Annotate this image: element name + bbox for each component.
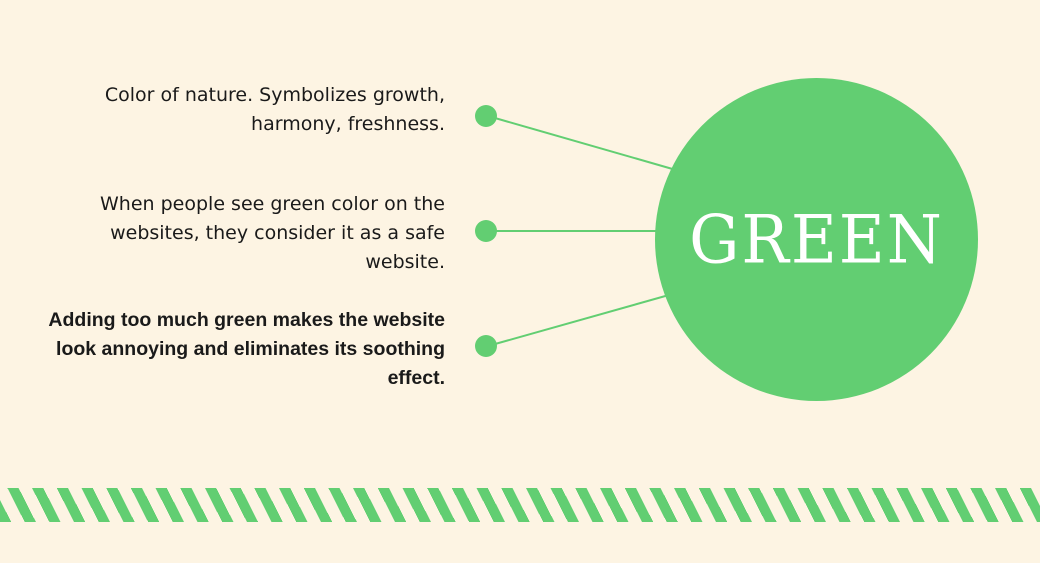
connector-bottom-line xyxy=(488,293,676,346)
bullet-dot-safe-website xyxy=(475,220,497,242)
bullet-dot-too-much-green xyxy=(475,335,497,357)
connector-top-line xyxy=(488,116,676,170)
fact-item-safe-website: When people see green color on the websi… xyxy=(40,190,445,277)
fact-item-nature: Color of nature. Symbolizes growth, harm… xyxy=(40,81,445,139)
green-circle-label: GREEN xyxy=(689,206,944,273)
bullet-dot-nature xyxy=(475,105,497,127)
fact-item-too-much-green: Adding too much green makes the website … xyxy=(40,306,445,393)
infographic-canvas: GREEN Color of nature. Symbolizes growth… xyxy=(0,0,1040,563)
green-circle: GREEN xyxy=(655,78,978,401)
diagonal-stripe-band xyxy=(0,488,1040,522)
